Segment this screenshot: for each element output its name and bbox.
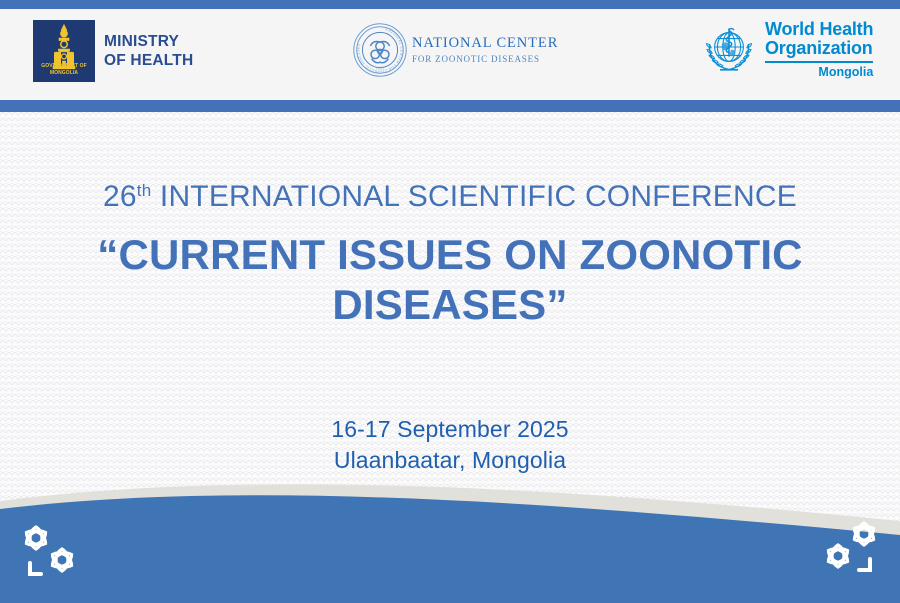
ministry-of-health-logo: GOVERNMENT OF MONGOLIA MINISTRY OF HEALT… [33,20,193,82]
ministry-of-health-name: MINISTRY OF HEALTH [104,32,193,70]
conference-subtitle: 26th INTERNATIONAL SCIENTIFIC CONFERENCE [0,172,900,216]
wave-divider-shape [0,473,900,603]
nczd-biohazard-seal-icon: NATIONAL CENTER FOR ZOONOTIC DISEASES 19… [352,22,408,78]
mongolian-knot-ornament-icon [808,515,886,581]
nczd-name-line1: NATIONAL CENTER [412,36,558,51]
conference-title-slide: GOVERNMENT OF MONGOLIA MINISTRY OF HEALT… [0,0,900,603]
header-divider-bar [0,100,900,112]
ministry-name-line2: OF HEALTH [104,51,193,70]
top-accent-bar [0,0,900,9]
page-title: “CURRENT ISSUES ON ZOONOTIC DISEASES” [0,230,900,330]
nczd-logo: NATIONAL CENTER FOR ZOONOTIC DISEASES 19… [352,22,558,78]
who-name-line2: Organization [765,39,873,58]
event-location: Ulaanbaatar, Mongolia [0,445,900,476]
who-divider-rule [765,61,873,63]
who-country-label: Mongolia [765,66,873,79]
event-date: 16-17 September 2025 [0,414,900,445]
conference-number: 26 [103,180,137,213]
nczd-name: NATIONAL CENTER FOR ZOONOTIC DISEASES [412,36,558,64]
crest-text-line1: GOVERNMENT OF [33,63,95,69]
who-logo: World Health Organization Mongolia [700,20,873,78]
svg-text:1931: 1931 [375,66,384,71]
title-block: 26th INTERNATIONAL SCIENTIFIC CONFERENCE… [0,172,900,330]
who-name: World Health Organization Mongolia [765,20,873,78]
ministry-name-line1: MINISTRY [104,32,193,51]
conference-ordinal-suffix: th [137,181,152,200]
nczd-name-line2: FOR ZOONOTIC DISEASES [412,55,558,64]
crest-text-line2: MONGOLIA [33,70,95,76]
conference-subtitle-text: INTERNATIONAL SCIENTIFIC CONFERENCE [151,180,797,213]
event-meta-block: 16-17 September 2025 Ulaanbaatar, Mongol… [0,414,900,476]
mongolia-soyombo-crest-icon: GOVERNMENT OF MONGOLIA [33,20,95,82]
who-emblem-icon [700,20,758,78]
who-name-line1: World Health [765,20,873,39]
mongolian-knot-ornament-icon [14,519,92,585]
